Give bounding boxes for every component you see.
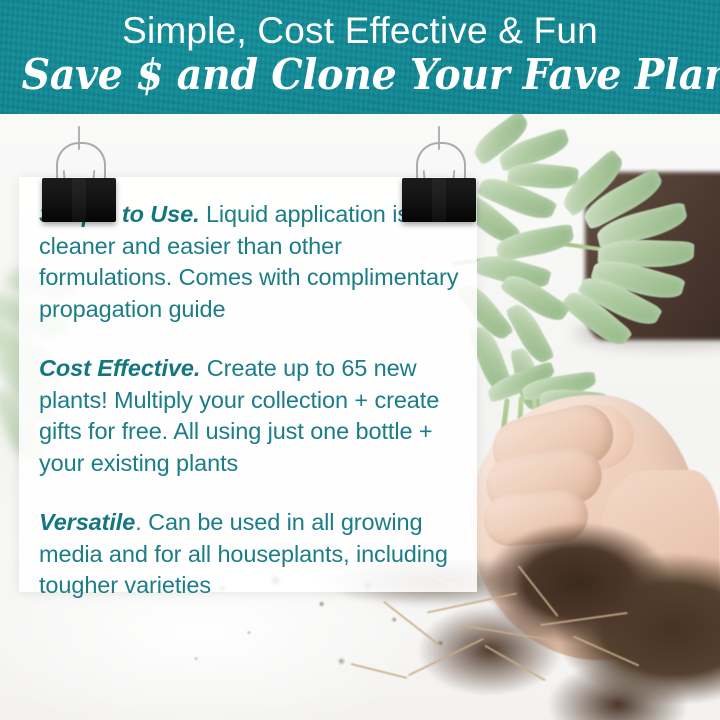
binder-clip-icon-right — [402, 142, 476, 224]
benefit-lead: Cost Effective. — [39, 355, 200, 381]
headline-script: Save $ and Clone Your Fave Plants! — [22, 54, 699, 96]
benefit-item: Cost Effective. Create up to 65 new plan… — [39, 353, 463, 479]
benefits-card-content: Simple to Use. Liquid application is cle… — [39, 199, 463, 602]
benefits-card: Simple to Use. Liquid application is cle… — [19, 177, 477, 592]
promo-graphic: Simple, Cost Effective & Fun Save $ and … — [0, 0, 720, 720]
benefit-lead: Versatile — [39, 509, 135, 535]
clip-body — [42, 178, 116, 222]
clip-body — [402, 178, 476, 222]
headline-primary: Simple, Cost Effective & Fun — [0, 12, 720, 49]
header-banner: Simple, Cost Effective & Fun Save $ and … — [0, 0, 720, 114]
binder-clip-icon-left — [42, 142, 116, 224]
benefit-item: Versatile. Can be used in all growing me… — [39, 507, 463, 602]
